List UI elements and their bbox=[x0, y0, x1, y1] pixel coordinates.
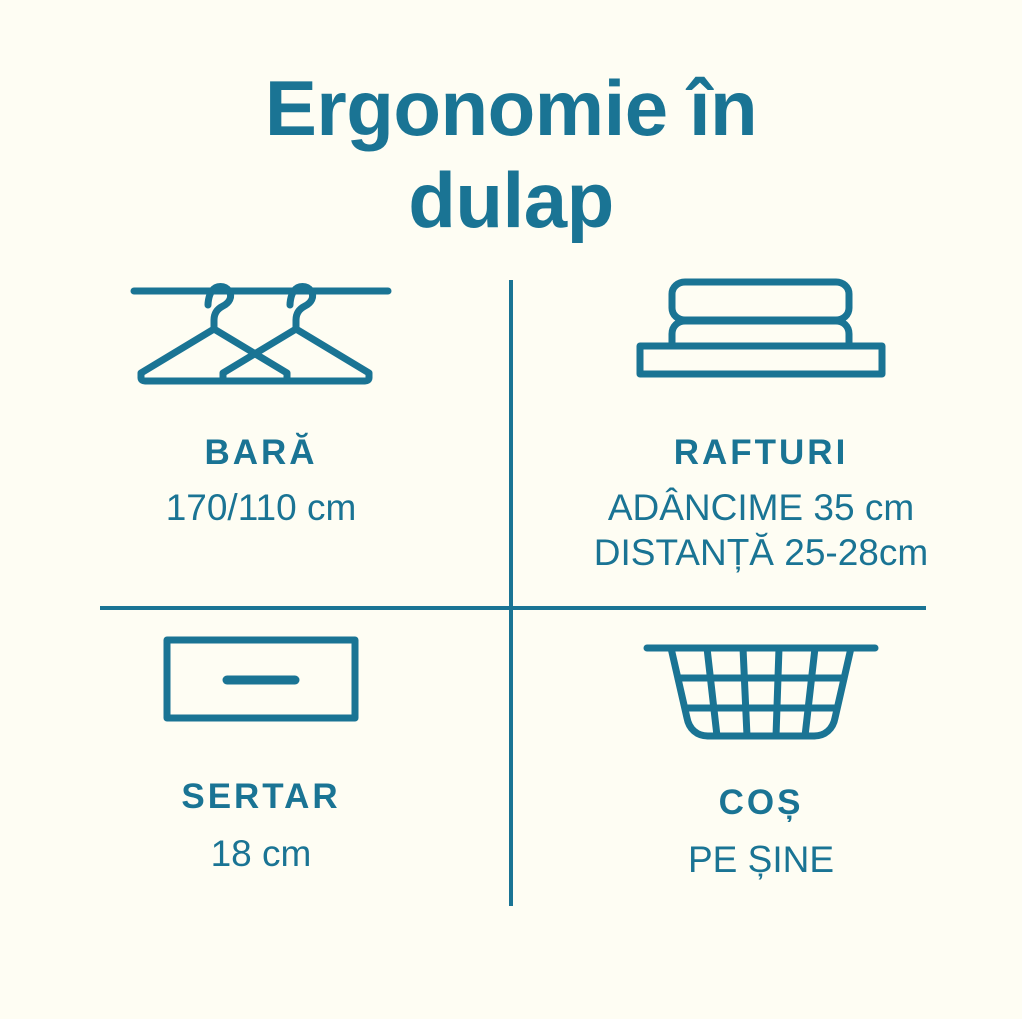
page-title-line-1: Ergonomie în bbox=[0, 62, 1022, 154]
quadrant-rafturi-heading: RAFTURI bbox=[674, 434, 849, 473]
quadrant-sertar-heading: SERTAR bbox=[181, 778, 340, 817]
ergonomics-wardrobe-infographic: Ergonomie în dulap BARĂ 170/110 cm bbox=[0, 0, 1022, 1019]
quadrant-rafturi-line-2: DISTANȚĂ 25-28cm bbox=[594, 530, 928, 575]
quadrant-bara-heading: BARĂ bbox=[204, 434, 317, 473]
quadrant-cos-line-1: PE ȘINE bbox=[688, 837, 834, 882]
quadrant-bara: BARĂ 170/110 cm bbox=[30, 272, 492, 530]
quadrant-sertar-line-1: 18 cm bbox=[211, 831, 312, 876]
folded-linens-on-shelf-icon bbox=[630, 272, 892, 382]
quadrant-cos-heading: COȘ bbox=[719, 784, 804, 823]
page-title: Ergonomie în dulap bbox=[0, 62, 1022, 246]
drawer-icon bbox=[163, 636, 359, 722]
clothes-hangers-on-rail-icon bbox=[130, 272, 392, 382]
horizontal-divider bbox=[100, 606, 926, 610]
page-title-line-2: dulap bbox=[0, 154, 1022, 246]
quadrant-rafturi: RAFTURI ADÂNCIME 35 cm DISTANȚĂ 25-28cm bbox=[530, 272, 992, 575]
quadrant-rafturi-line-1: ADÂNCIME 35 cm bbox=[594, 485, 928, 530]
laundry-basket-icon bbox=[642, 636, 880, 742]
quadrant-bara-line-1: 170/110 cm bbox=[166, 485, 357, 530]
quadrant-cos: COȘ PE ȘINE bbox=[530, 636, 992, 882]
quadrant-sertar: SERTAR 18 cm bbox=[30, 636, 492, 876]
vertical-divider bbox=[509, 280, 513, 906]
quadrant-rafturi-lines: ADÂNCIME 35 cm DISTANȚĂ 25-28cm bbox=[594, 485, 928, 575]
